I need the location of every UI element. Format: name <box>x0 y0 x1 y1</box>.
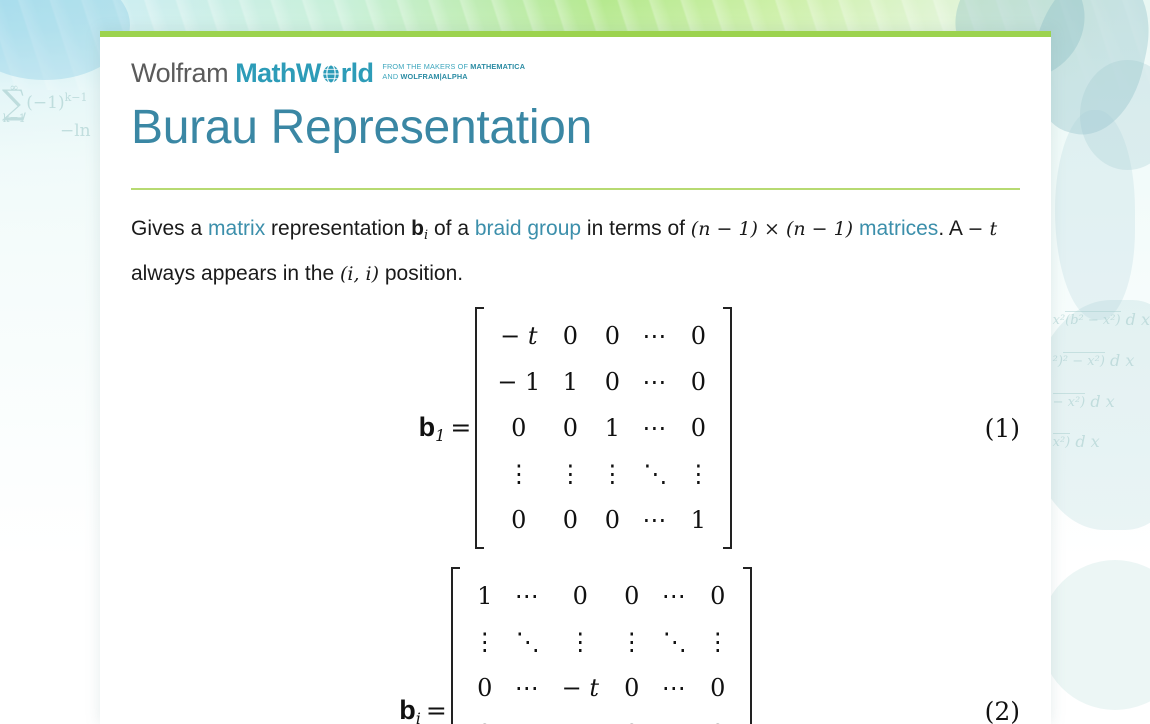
matrix-row: ⋮ ⋱ ⋮ ⋮ ⋱ ⋮ <box>464 619 739 665</box>
matrix-cell: 0 <box>591 497 633 543</box>
matrix-cell: 0 <box>697 665 739 711</box>
matrix-cell: 0 <box>591 313 633 359</box>
matrix-cell: ⋮ <box>550 619 611 665</box>
tagline-line-2: AND WOLFRAM|ALPHA <box>382 72 525 82</box>
matrix-cell: ⋯ <box>653 711 697 724</box>
matrix-cell: − 1 <box>488 359 549 405</box>
minus-t-expression: − t <box>968 218 998 240</box>
body-segment: of a <box>428 217 475 240</box>
matrix-row: ⋮ ⋮ ⋮ ⋱ ⋮ <box>488 451 719 497</box>
matrix-cell: ⋱ <box>506 619 550 665</box>
body-segment: position. <box>379 262 463 285</box>
tagline-brand-wolframalpha: WOLFRAM|ALPHA <box>400 72 467 81</box>
matrix-cell: 1 <box>591 405 633 451</box>
matrix-cell: ⋯ <box>633 313 677 359</box>
link-matrix[interactable]: matrix <box>208 217 265 240</box>
matrix-cell: ⋱ <box>633 451 677 497</box>
matrix-cell: ⋯ <box>506 711 550 724</box>
symbol-b: b <box>411 217 424 240</box>
body-segment: always appears in the <box>131 262 340 285</box>
logo-mathworld-text: MathW rld <box>235 58 373 88</box>
lhs-subscript: i <box>416 709 421 724</box>
matrix-cell: ⋯ <box>653 573 697 619</box>
body-segment: representation <box>265 217 411 240</box>
globe-icon <box>321 60 341 80</box>
matrix-cell: 0 <box>677 359 719 405</box>
link-braid-group[interactable]: braid group <box>475 217 581 240</box>
matrix-cell: 0 <box>611 711 653 724</box>
matrix-row: 0 0 1 ⋯ 0 <box>488 405 719 451</box>
matrix-cell: 0 <box>677 313 719 359</box>
body-segment: in terms of <box>581 217 691 240</box>
matrix-cell: ⋮ <box>677 451 719 497</box>
matrix-cell: 0 <box>550 573 611 619</box>
lhs-symbol: b <box>399 695 416 724</box>
logo-math-part: Math <box>235 58 296 88</box>
card-body: Wolfram MathW rld FROM THE MAKERS OF <box>100 37 1051 724</box>
link-matrices[interactable]: matrices <box>859 217 938 240</box>
content-card: Wolfram MathW rld FROM THE MAKERS OF <box>100 31 1051 724</box>
matrix-cell: 1 <box>464 573 506 619</box>
lhs-subscript: 1 <box>435 426 445 445</box>
matrix-cell: ⋮ <box>591 451 633 497</box>
matrix-cell: 0 <box>488 405 549 451</box>
equation-lhs: b1= <box>419 412 472 445</box>
logo-wolfram-text: Wolfram <box>131 58 228 88</box>
body-segment: . A <box>938 217 967 240</box>
matrix-cell: 0 <box>549 313 591 359</box>
matrix-bi: 1 ⋯ 0 0 ⋯ 0 ⋮ ⋱ ⋮ ⋮ ⋱ <box>451 567 752 724</box>
matrix-cell: 0 <box>549 497 591 543</box>
matrix-row: 1 ⋯ 0 0 ⋯ 0 <box>464 573 739 619</box>
tagline-prefix-1: FROM THE MAKERS OF <box>382 62 470 71</box>
matrix-cell: − t <box>488 313 549 359</box>
matrix-cell: ⋱ <box>653 619 697 665</box>
matrix-cell: ⋯ <box>506 665 550 711</box>
matrix-cell: − t <box>550 711 611 724</box>
matrix-cell: 0 <box>697 711 739 724</box>
matrix-cell: 0 <box>549 405 591 451</box>
matrix-table: − t 0 0 ⋯ 0 − 1 1 0 ⋯ 0 <box>488 313 719 543</box>
matrix-row: − 1 1 0 ⋯ 0 <box>488 359 719 405</box>
matrix-table: 1 ⋯ 0 0 ⋯ 0 ⋮ ⋱ ⋮ ⋮ ⋱ <box>464 573 739 724</box>
tagline-prefix-2: AND <box>382 72 400 81</box>
page-root: ∞ ∑ k=1 (−1)k−1 −ln x²(b² − x²) d x ²)² … <box>0 0 1150 724</box>
lhs-symbol: b <box>419 412 436 442</box>
matrix-cell: ⋯ <box>633 359 677 405</box>
page-title: Burau Representation <box>131 100 1020 156</box>
matrix-cell: ⋯ <box>506 573 550 619</box>
matrix-cell: − t <box>550 665 611 711</box>
matrix-cell: 0 <box>611 665 653 711</box>
matrix-cell: ⋮ <box>549 451 591 497</box>
matrix-b1: − t 0 0 ⋯ 0 − 1 1 0 ⋯ 0 <box>475 307 732 549</box>
matrix-cell: 1 <box>549 359 591 405</box>
matrix-cell: 0 <box>464 665 506 711</box>
matrix-cell: ⋯ <box>653 665 697 711</box>
matrix-row: 0 ⋯ − t 0 ⋯ 0 <box>464 665 739 711</box>
matrix-row: 0 0 0 ⋯ 1 <box>488 497 719 543</box>
body-segment: Gives a <box>131 217 208 240</box>
equation-lhs: bi= <box>399 695 447 724</box>
matrix-cell: 0 <box>464 711 506 724</box>
matrix-cell: 0 <box>591 359 633 405</box>
matrix-cell: ⋮ <box>611 619 653 665</box>
site-logo[interactable]: Wolfram MathW rld FROM THE MAKERS OF <box>131 37 1020 92</box>
equals-sign: = <box>426 696 447 724</box>
article-body: Gives a matrix representation bi of a br… <box>131 210 1020 293</box>
equals-sign: = <box>450 413 471 442</box>
equation-number-1: (1) <box>985 414 1020 443</box>
matrix-cell: 0 <box>697 573 739 619</box>
equation-number-2: (2) <box>985 697 1020 724</box>
logo-tagline: FROM THE MAKERS OF MATHEMATICA AND WOLFR… <box>382 62 525 81</box>
dimension-expression: (n − 1) × (n − 1) <box>691 218 853 240</box>
equation-burau-bi: bi= 1 ⋯ 0 0 ⋯ 0 ⋮ ⋱ <box>131 567 1020 724</box>
matrix-row: − t 0 0 ⋯ 0 <box>488 313 719 359</box>
matrix-cell: 0 <box>488 497 549 543</box>
equation-burau-b1: b1= − t 0 0 ⋯ 0 − 1 1 0 <box>131 307 1020 549</box>
logo-world-tail: rld <box>341 58 374 88</box>
matrix-cell: ⋯ <box>633 497 677 543</box>
matrix-cell: 1 <box>677 497 719 543</box>
tagline-line-1: FROM THE MAKERS OF MATHEMATICA <box>382 62 525 72</box>
matrix-cell: ⋮ <box>697 619 739 665</box>
position-expression: (i, i) <box>340 263 379 285</box>
matrix-cell: 0 <box>677 405 719 451</box>
matrix-cell: 0 <box>611 573 653 619</box>
logo-w-part: W <box>296 58 321 88</box>
matrix-cell: ⋯ <box>633 405 677 451</box>
title-divider <box>131 188 1020 190</box>
tagline-brand-mathematica: MATHEMATICA <box>470 62 525 71</box>
matrix-cell: ⋮ <box>464 619 506 665</box>
matrix-row: 0 ⋯ − t 0 ⋯ 0 <box>464 711 739 724</box>
matrix-cell: ⋮ <box>488 451 549 497</box>
